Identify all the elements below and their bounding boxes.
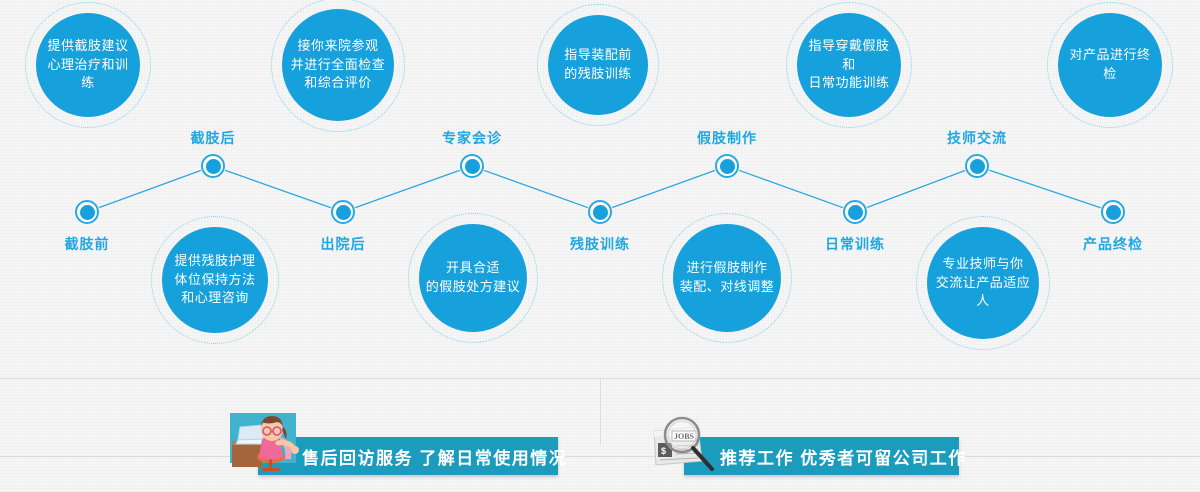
bubble-pre-amputation-line: 提供截肢建议 <box>42 37 134 56</box>
timeline-label-pre-amputation: 截肢前 <box>65 234 110 254</box>
connector-segment <box>226 171 331 208</box>
banner-after-sales[interactable]: 售后回访服务 了解日常使用情况 <box>258 437 558 475</box>
timeline-label-expert-consult: 专家会诊 <box>442 128 502 148</box>
timeline-node-technician-talk[interactable] <box>965 154 989 178</box>
bubble-final-check: 对产品进行终检 <box>1058 13 1162 117</box>
bubble-final-check-line: 对产品进行终检 <box>1064 46 1156 84</box>
connector-segment <box>740 171 843 208</box>
node-dot-icon <box>848 205 863 220</box>
timeline-node-post-amputation[interactable] <box>201 154 225 178</box>
bubble-expert-consult-line: 的残肢训练 <box>564 65 632 84</box>
timeline-label-daily-training: 日常训练 <box>825 234 885 254</box>
node-dot-icon <box>1106 205 1121 220</box>
timeline-label-post-discharge: 出院后 <box>321 234 366 254</box>
timeline-label-technician-talk: 技师交流 <box>947 128 1007 148</box>
bubble-daily-training-line: 进行假肢制作 <box>680 259 775 278</box>
connector-segment <box>485 171 588 208</box>
banner-job-referral[interactable]: 推荐工作 优秀者可留公司工作 JOBS $ <box>684 437 959 475</box>
node-dot-icon <box>336 205 351 220</box>
bubble-daily-training-line: 装配、对线调整 <box>680 278 775 297</box>
banner-job-referral-bar: 推荐工作 优秀者可留公司工作 <box>684 437 959 475</box>
bubble-technician-talk: 专业技师与你交流让产品适应人 <box>927 227 1039 339</box>
node-dot-icon <box>465 159 480 174</box>
bubble-post-discharge-line: 体位保持方法 <box>174 271 255 290</box>
bubble-expert-consult-text: 指导装配前的残肢训练 <box>558 46 638 84</box>
bubble-post-discharge-line: 提供残肢护理 <box>174 252 255 271</box>
timeline-label-prosthesis-make: 假肢制作 <box>697 128 757 148</box>
timeline-label-post-amputation: 截肢后 <box>191 128 236 148</box>
bubble-post-amputation-line: 和综合评价 <box>291 74 386 93</box>
bubble-post-discharge-text: 提供残肢护理体位保持方法和心理咨询 <box>168 252 261 309</box>
connector-segment <box>356 171 460 208</box>
timeline-node-pre-amputation[interactable] <box>75 200 99 224</box>
svg-text:$: $ <box>661 446 666 456</box>
timeline-node-stump-training[interactable] <box>588 200 612 224</box>
connector-segment <box>868 171 965 207</box>
bubble-pre-amputation-text: 提供截肢建议心理治疗和训练 <box>36 37 140 94</box>
bubble-pre-amputation: 提供截肢建议心理治疗和训练 <box>36 13 140 117</box>
woman-at-desk-icon <box>224 413 302 475</box>
bubble-prosthesis-make-line: 日常功能训练 <box>803 74 895 93</box>
connector-segment <box>613 171 715 208</box>
banner-job-referral-label: 推荐工作 优秀者可留公司工作 <box>720 444 967 469</box>
bubble-prosthesis-make: 指导穿戴假肢和日常功能训练 <box>797 13 901 117</box>
node-dot-icon <box>593 205 608 220</box>
divider-rule-bottom <box>0 456 1200 457</box>
bubble-pre-amputation-line: 心理治疗和训练 <box>42 56 134 94</box>
timeline-node-post-discharge[interactable] <box>331 200 355 224</box>
timeline-node-prosthesis-make[interactable] <box>715 154 739 178</box>
bubble-daily-training-text: 进行假肢制作装配、对线调整 <box>674 259 781 297</box>
bubble-expert-consult: 指导装配前的残肢训练 <box>548 15 648 115</box>
bubble-post-amputation: 接你来院参观并进行全面检查和综合评价 <box>282 9 394 121</box>
bubble-post-amputation-line: 并进行全面检查 <box>291 56 386 75</box>
node-dot-icon <box>206 159 221 174</box>
bubble-prosthesis-make-text: 指导穿戴假肢和日常功能训练 <box>797 37 901 94</box>
jobs-magnifier-icon: JOBS $ <box>646 413 724 473</box>
bubble-expert-consult-line: 指导装配前 <box>564 46 632 65</box>
node-dot-icon <box>970 159 985 174</box>
bubble-technician-talk-line: 交流让产品适应人 <box>933 274 1033 312</box>
node-dot-icon <box>720 159 735 174</box>
bubble-stump-training: 开具合适的假肢处方建议 <box>419 224 527 332</box>
node-dot-icon <box>80 205 95 220</box>
bubble-stump-training-line: 开具合适 <box>426 259 521 278</box>
infographic-stage: 提供截肢建议心理治疗和训练接你来院参观并进行全面检查和综合评价指导装配前的残肢训… <box>0 0 1200 492</box>
bubble-post-discharge-line: 和心理咨询 <box>174 289 255 308</box>
bubble-daily-training: 进行假肢制作装配、对线调整 <box>673 224 781 332</box>
bubble-post-amputation-line: 接你来院参观 <box>291 37 386 56</box>
connector-segment <box>100 171 201 208</box>
banner-after-sales-label: 售后回访服务 了解日常使用情况 <box>302 444 567 469</box>
bubble-post-amputation-text: 接你来院参观并进行全面检查和综合评价 <box>285 37 392 94</box>
timeline-node-final-inspection[interactable] <box>1101 200 1125 224</box>
bubble-technician-talk-line: 专业技师与你 <box>933 255 1033 274</box>
bubble-post-discharge: 提供残肢护理体位保持方法和心理咨询 <box>162 227 268 333</box>
divider-rule-vertical <box>600 378 601 444</box>
bubble-technician-talk-text: 专业技师与你交流让产品适应人 <box>927 255 1039 312</box>
timeline-label-stump-training: 残肢训练 <box>570 234 630 254</box>
timeline-label-final-inspection: 产品终检 <box>1083 234 1143 254</box>
bubble-final-check-text: 对产品进行终检 <box>1058 46 1162 84</box>
bubble-stump-training-line: 的假肢处方建议 <box>426 278 521 297</box>
bubble-prosthesis-make-line: 指导穿戴假肢和 <box>803 37 895 75</box>
banner-after-sales-bar: 售后回访服务 了解日常使用情况 <box>258 437 558 475</box>
connector-segment <box>990 170 1100 207</box>
bubble-stump-training-text: 开具合适的假肢处方建议 <box>420 259 527 297</box>
timeline-node-expert-consult[interactable] <box>460 154 484 178</box>
timeline-node-daily-training[interactable] <box>843 200 867 224</box>
